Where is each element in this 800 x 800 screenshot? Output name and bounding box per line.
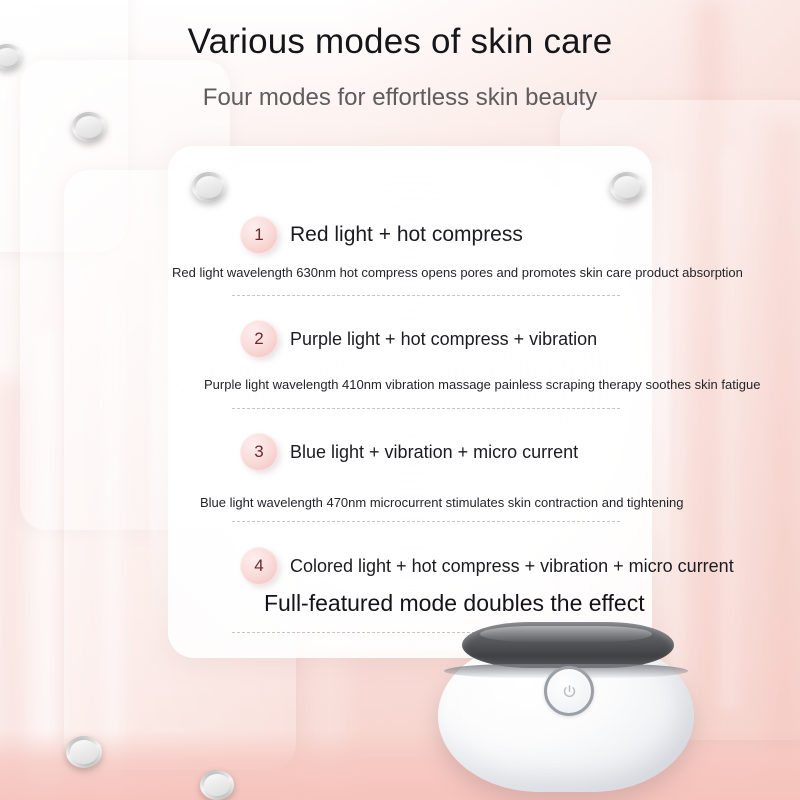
mode-row-4[interactable]: 4 Colored light + hot compress + vibrati…	[240, 547, 734, 585]
mode-description: Red light wavelength 630nm hot compress …	[172, 265, 743, 280]
mode-row-2[interactable]: 2 Purple light + hot compress + vibratio…	[240, 320, 597, 358]
mode-number-badge: 1	[240, 216, 278, 254]
mode-label: Purple light + hot compress + vibration	[290, 329, 597, 350]
background-light-streak	[96, 300, 130, 800]
mode-separator	[232, 408, 620, 409]
mode-description: Blue light wavelength 470nm microcurrent…	[200, 495, 683, 510]
power-icon	[562, 684, 577, 699]
mode-number-badge: 3	[240, 433, 278, 471]
closing-statement: Full-featured mode doubles the effect	[264, 590, 645, 617]
mode-description: Purple light wavelength 410nm vibration …	[204, 377, 760, 392]
screw-ring-icon	[66, 736, 102, 768]
screw-ring-icon	[200, 770, 234, 800]
mode-label: Red light + hot compress	[290, 223, 523, 247]
mode-label: Colored light + hot compress + vibration…	[290, 556, 734, 577]
mode-separator	[232, 295, 620, 296]
mode-number-badge: 2	[240, 320, 278, 358]
page-subtitle: Four modes for effortless skin beauty	[0, 84, 800, 112]
device-power-button[interactable]	[544, 666, 594, 716]
mode-number-badge: 4	[240, 547, 278, 585]
screw-ring-icon	[72, 112, 106, 142]
page-title: Various modes of skin care	[0, 22, 800, 62]
mode-separator	[232, 521, 620, 522]
screw-ring-icon	[192, 172, 226, 202]
device-top-gloss	[480, 626, 652, 642]
mode-row-1[interactable]: 1 Red light + hot compress	[240, 216, 523, 254]
mode-label: Blue light + vibration + micro current	[290, 442, 578, 463]
mode-row-3[interactable]: 3 Blue light + vibration + micro current	[240, 433, 578, 471]
background-light-streak	[716, 150, 742, 710]
product-feature-image: Various modes of skin care Four modes fo…	[0, 0, 800, 800]
beauty-device	[432, 618, 700, 800]
screw-ring-icon	[610, 172, 644, 202]
